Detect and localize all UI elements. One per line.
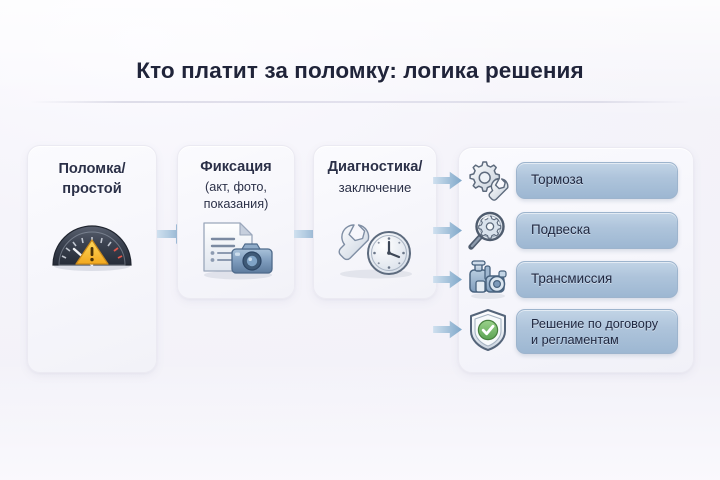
outcome-pill-suspension[interactable]: Подвеска (516, 212, 678, 249)
outcome-pill-contract-decision[interactable]: Решение по договору и регламентам (516, 309, 678, 354)
gear-wrench-icon (466, 159, 510, 203)
stage-card-fixation-line2: (акт, фото, (178, 179, 294, 196)
document-camera-icon (194, 219, 280, 281)
stage-card-diagnostics[interactable]: Диагностика/ заключение (313, 145, 437, 299)
stage-card-diagnostics-line1: Диагностика/ (314, 158, 436, 177)
outcome-pill-contract-decision-label2: и регламентам (531, 332, 658, 348)
magnifier-gear-icon (466, 208, 510, 252)
wrench-clock-icon (330, 218, 422, 280)
page-title: Кто платит за поломку: логика решения (0, 58, 720, 84)
stage-card-breakdown-line2: простой (28, 180, 156, 199)
title-divider (30, 101, 690, 103)
stage-card-diagnostics-line2: заключение (314, 179, 436, 197)
branch-arrow-3 (433, 269, 463, 295)
gauge-warning-icon (46, 218, 138, 274)
outcome-pill-brakes-label: Тормоза (531, 172, 583, 189)
gearbox-icon (466, 257, 510, 301)
outcome-pill-suspension-label: Подвеска (531, 222, 590, 239)
branch-arrow-1 (433, 170, 463, 196)
branch-arrow-2 (433, 220, 463, 246)
stage-card-breakdown[interactable]: Поломка/ простой (27, 145, 157, 373)
stage-card-fixation-line3: показания) (178, 196, 294, 213)
shield-check-icon (466, 307, 510, 353)
outcome-pill-brakes[interactable]: Тормоза (516, 162, 678, 199)
outcome-pill-transmission[interactable]: Трансмиссия (516, 261, 678, 298)
stage-card-breakdown-line1: Поломка/ (28, 160, 156, 179)
branch-arrow-4 (433, 319, 463, 345)
stage-card-fixation[interactable]: Фиксация (акт, фото, показания) (177, 145, 295, 299)
outcome-pill-transmission-label: Трансмиссия (531, 271, 612, 288)
infographic-canvas: Кто платит за поломку: логика решения По… (0, 0, 720, 480)
stage-card-fixation-line1: Фиксация (178, 158, 294, 177)
background-sheen-bottom (0, 360, 720, 480)
outcome-pill-contract-decision-label: Решение по договору (531, 316, 658, 332)
